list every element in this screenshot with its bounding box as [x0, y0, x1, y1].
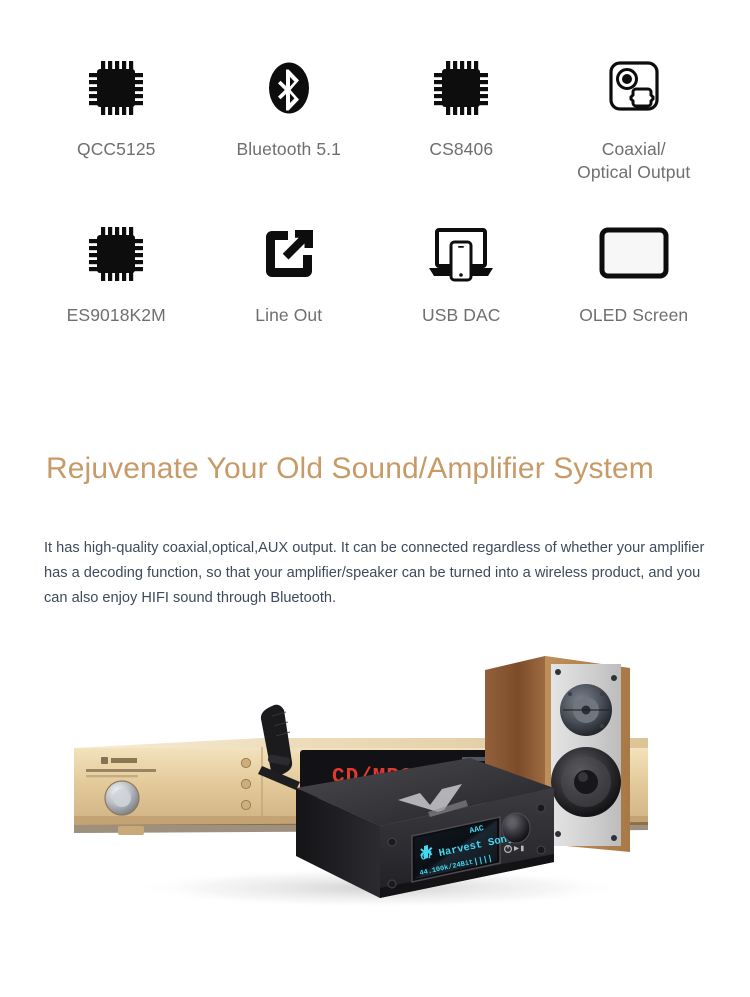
line-out-icon — [259, 218, 319, 290]
feature-label: CS8406 — [429, 138, 493, 161]
feature-item-usb-dac: USB DAC — [375, 218, 548, 327]
feature-item-oled-screen: OLED Screen — [548, 218, 721, 327]
dac-control-knob — [502, 813, 530, 843]
feature-item-coaxial-optical: Coaxial/ Optical Output — [548, 52, 721, 184]
dac-screw-tl — [388, 838, 396, 846]
usb-dac-icon — [427, 218, 495, 290]
section-headline: Rejuvenate Your Old Sound/Amplifier Syst… — [46, 452, 736, 486]
feature-label: ES9018K2M — [67, 304, 166, 327]
feature-label: OLED Screen — [579, 304, 688, 327]
feature-item-qcc5125: QCC5125 — [30, 52, 203, 184]
feature-item-bluetooth: Bluetooth 5.1 — [203, 52, 376, 184]
chip-icon — [84, 218, 148, 290]
feature-label: Line Out — [255, 304, 322, 327]
oled-screen-icon — [598, 218, 670, 290]
feature-grid: QCC5125 Bluetooth 5.1 — [0, 52, 750, 327]
feature-item-es9018k2m: ES9018K2M — [30, 218, 203, 327]
dac-screw-br — [537, 846, 545, 854]
feature-label: QCC5125 — [77, 138, 156, 161]
dac-screw-bl — [388, 880, 396, 888]
chip-icon — [84, 52, 148, 124]
chip-icon — [429, 52, 493, 124]
feature-label: Bluetooth 5.1 — [237, 138, 341, 161]
coaxial-optical-icon — [602, 52, 666, 124]
product-photo: CD/MP3 — [0, 630, 750, 930]
feature-label: USB DAC — [422, 304, 501, 327]
feature-item-cs8406: CS8406 — [375, 52, 548, 184]
bluetooth-icon — [257, 52, 321, 124]
feature-item-line-out: Line Out — [203, 218, 376, 327]
section-body-text: It has high-quality coaxial,optical,AUX … — [44, 536, 714, 611]
dac-screw-tr — [537, 804, 545, 812]
feature-label: Coaxial/ Optical Output — [577, 138, 690, 184]
